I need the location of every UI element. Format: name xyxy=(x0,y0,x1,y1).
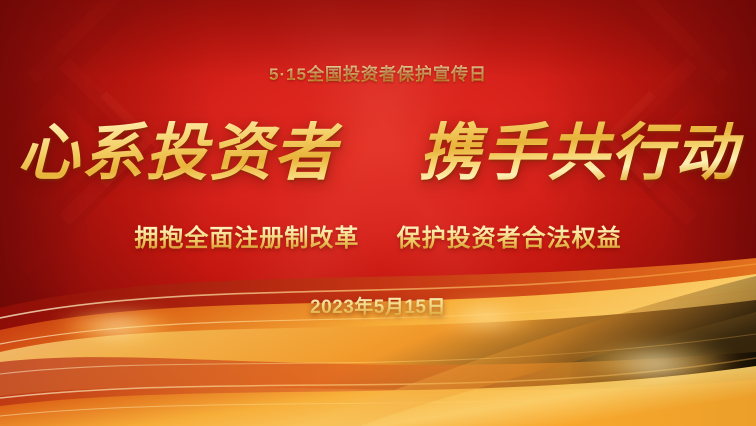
subtitle-part-1: 拥抱全面注册制改革 xyxy=(134,225,359,252)
main-title-part-1: 心系投资者 xyxy=(17,116,337,189)
eyebrow-text: 5·15全国投资者保护宣传日 xyxy=(0,60,756,85)
main-title: 心系投资者 携手共行动 xyxy=(0,118,756,187)
subtitle-part-2: 保护投资者合法权益 xyxy=(397,225,622,252)
subtitle: 拥抱全面注册制改革 保护投资者合法权益 xyxy=(0,218,756,253)
main-title-part-2: 携手共行动 xyxy=(419,116,739,189)
poster-content: 5·15全国投资者保护宣传日 心系投资者 携手共行动 拥抱全面注册制改革 保护投… xyxy=(0,0,756,426)
investor-protection-poster: 5·15全国投资者保护宣传日 心系投资者 携手共行动 拥抱全面注册制改革 保护投… xyxy=(0,0,756,426)
event-date: 2023年5月15日 xyxy=(0,292,756,319)
